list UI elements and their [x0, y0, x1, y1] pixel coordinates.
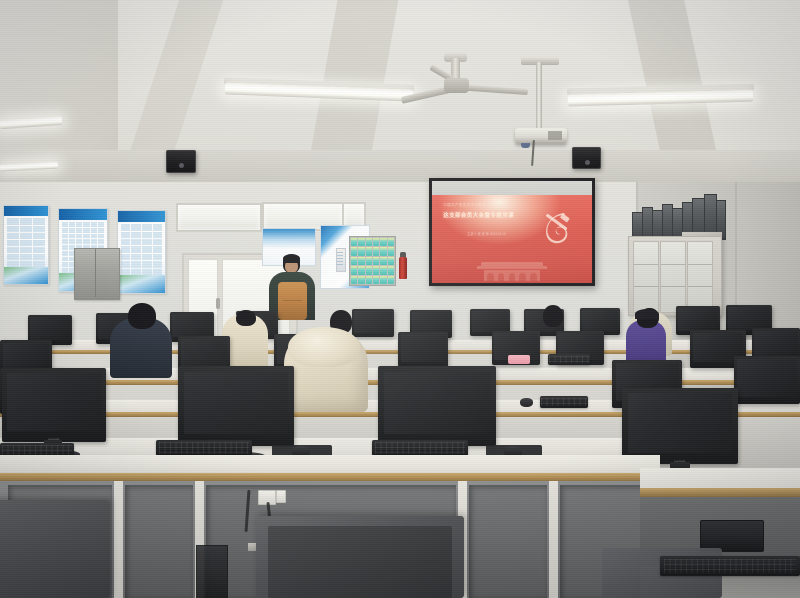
ceiling-projector: [515, 128, 567, 144]
poster-wave-graphic: [118, 275, 165, 293]
wall-poster-3: [117, 210, 166, 294]
projected-slide: 中国共产党党史学习教育 这支部会员大会暨专题党课 主讲人 张 老 师 2023.…: [432, 195, 592, 283]
slide-title-text: 这支部会员大会暨专题党课: [443, 213, 531, 220]
door-handle[interactable]: [216, 298, 220, 309]
wall-control-box-buttons: [337, 252, 343, 266]
speaker-cone: [179, 163, 184, 168]
monitor-front-center: Lenovo: [178, 366, 294, 446]
speaker-cone: [585, 160, 590, 165]
monitor-right-island: Lenovo: [622, 388, 738, 464]
student-right-head: [543, 305, 563, 327]
mouse-third-row: [520, 398, 533, 407]
monitor-front-right: Lenovo: [378, 366, 496, 446]
wall-poster-1: [3, 205, 49, 285]
pink-pencil-case: [508, 355, 530, 364]
hammer-and-sickle-icon: [538, 208, 578, 248]
student-navy-jacket-head: [128, 303, 156, 329]
student-cream-puffer-hood: [288, 327, 360, 367]
keyboard-front-center: [156, 440, 252, 456]
monitor-back-panel-foreground-left: [0, 500, 110, 598]
right-foreground-desk-surface: [640, 468, 800, 490]
slide-meta-text: 主讲人 张 老 师 2023.01.10: [453, 232, 520, 237]
monitor-second-4: [398, 332, 448, 367]
desk-cubby-2: [125, 485, 193, 598]
fire-extinguisher: [399, 257, 407, 279]
gate-roof-lower: [477, 266, 547, 269]
glass-door-storage-cabinet[interactable]: [628, 236, 722, 316]
desk-divider-1: [114, 481, 123, 598]
cabinet-glass-door-3[interactable]: [687, 241, 713, 313]
student-purple-jacket-cap: [635, 309, 659, 319]
phone-pocket-chart: [349, 236, 396, 286]
poster-wave-graphic: [4, 267, 48, 284]
projector-drop-pole: [536, 62, 542, 130]
poster-header-band: [59, 209, 107, 220]
slide-eyebrow-text: 中国共产党党史学习教育: [443, 203, 526, 208]
keyboard-front-right: [372, 440, 468, 456]
poster-header-band: [4, 206, 48, 216]
monitor-third-3: [734, 356, 800, 404]
poster-photo-grid: [121, 224, 162, 275]
ceiling-soffit: [0, 150, 800, 182]
keyboard-foreground-right[interactable]: [660, 556, 800, 576]
presenter-apron-pocket: [283, 300, 302, 310]
cabinet-glass-door-2[interactable]: [660, 241, 686, 313]
pc-tower-center: [196, 545, 228, 598]
monitor-front-left: Lenovo: [2, 368, 106, 442]
poster-header-band: [118, 211, 165, 222]
projection-screen: 中国共产党党史学习教育 这支部会员大会暨专题党课 主讲人 张 老 师 2023.…: [429, 178, 595, 286]
wall-metal-cabinet-seam: [95, 249, 96, 297]
classroom-photo: 中国共产党党史学习教育 这支部会员大会暨专题党课 主讲人 张 老 师 2023.…: [0, 0, 800, 598]
student-beige-puffer-head: [236, 310, 256, 326]
wall-speaker-right: [572, 147, 601, 169]
keyboard-third-row-right: [540, 396, 588, 408]
projector-vent: [548, 131, 562, 140]
desk-cubby-4: [469, 485, 547, 598]
gate-arches: [487, 273, 538, 282]
poster-icon-grid: [7, 218, 46, 266]
monitor-back-5: [352, 309, 394, 337]
transom-window-1: [176, 203, 262, 232]
presenter-hair: [283, 254, 300, 263]
tiananmen-gate-silhouette: [477, 262, 547, 281]
wall-speaker-left: [166, 150, 196, 173]
cabinet-glass-door-1[interactable]: [633, 241, 659, 313]
projection-screen-surface: 中国共产党党史学习教育 这支部会员大会暨专题党课 主讲人 张 老 师 2023.…: [432, 181, 592, 283]
wall-metal-cabinet[interactable]: [74, 248, 120, 300]
keyboard-second-row: [548, 354, 590, 365]
projector-lens: [521, 143, 530, 148]
right-foreground-desk-edge: [640, 488, 800, 497]
desk-divider-4: [549, 481, 558, 598]
foreground-desk-surface: [0, 455, 660, 475]
ceiling-fan-motor: [444, 78, 469, 93]
monitor-back-panel-foreground-center-inner: [268, 526, 452, 598]
power-outlet-under-desk-2[interactable]: [276, 490, 286, 503]
